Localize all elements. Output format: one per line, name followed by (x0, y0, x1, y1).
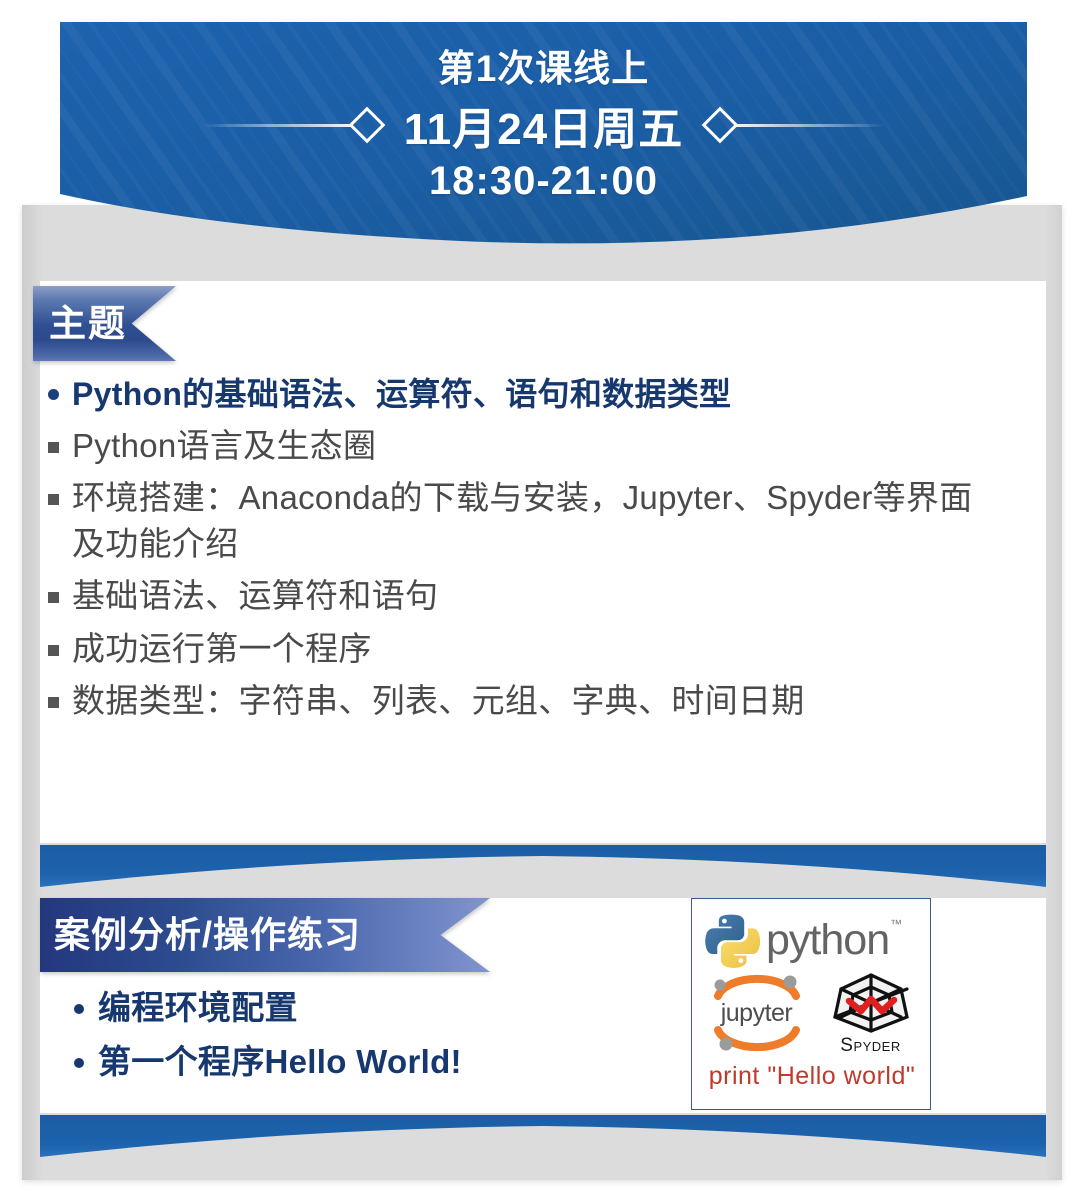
list-item: 环境搭建：Anaconda的下载与安装，Jupyter、Spyder等界面及功能… (48, 475, 998, 567)
list-item: 基础语法、运算符和语句 (48, 573, 998, 619)
square-bullet-icon (48, 645, 59, 656)
python-snake-logo-icon (704, 912, 760, 968)
python-logo-row: python ™ (704, 909, 920, 971)
python-wordmark: python (766, 919, 889, 962)
topic-text: 数据类型：字符串、列表、元组、字典、时间日期 (72, 678, 805, 724)
tools-logo-row: jupyter Spyder (698, 971, 926, 1055)
jupyter-logo-group: jupyter (706, 972, 808, 1054)
course-session-poster: 第1次课线上 11月24日周五 18:30-21:00 主题 Python的基础… (0, 0, 1080, 1201)
spyder-label: Spyder (823, 1036, 919, 1055)
topic-text: 环境搭建：Anaconda的下载与安装，Jupyter、Spyder等界面及功能… (72, 475, 998, 567)
cases-list: 编程环境配置 第一个程序Hello World! (74, 985, 654, 1092)
divider-crescent-bottom-shape (40, 1113, 1046, 1159)
spyder-logo-group: Spyder (823, 971, 919, 1055)
square-bullet-icon (48, 442, 59, 453)
square-bullet-icon (48, 697, 59, 708)
round-bullet-icon (48, 389, 59, 400)
list-item: 成功运行第一个程序 (48, 626, 998, 672)
topic-text: Python的基础语法、运算符、语句和数据类型 (72, 372, 731, 417)
jupyter-label: jupyter (706, 1001, 808, 1026)
case-text: 编程环境配置 (98, 985, 298, 1031)
header-banner: 第1次课线上 11月24日周五 18:30-21:00 (60, 22, 1027, 247)
ribbon-cases-label: 案例分析/操作练习 (40, 917, 361, 953)
square-bullet-icon (48, 592, 59, 603)
hello-world-code-line: print "Hello world" (692, 1062, 932, 1091)
list-item: Python的基础语法、运算符、语句和数据类型 (48, 372, 998, 417)
ribbon-topics: 主题 (33, 286, 176, 361)
square-bullet-icon (48, 494, 59, 505)
header-banner-shape (60, 22, 1027, 247)
divider-crescent-bottom (40, 1113, 1046, 1159)
topic-text: 成功运行第一个程序 (72, 626, 372, 672)
ribbon-topics-label: 主题 (33, 305, 127, 342)
divider-crescent-middle (40, 843, 1046, 889)
topic-text: 基础语法、运算符和语句 (72, 573, 438, 619)
list-item: 数据类型：字符串、列表、元组、字典、时间日期 (48, 678, 998, 724)
ribbon-cases: 案例分析/操作练习 (40, 898, 490, 972)
round-bullet-icon (74, 1058, 84, 1068)
round-bullet-icon (74, 1004, 84, 1014)
list-item: Python语言及生态圈 (48, 423, 998, 469)
divider-crescent-middle-shape (40, 843, 1046, 889)
topic-text: Python语言及生态圈 (72, 423, 376, 469)
case-text: 第一个程序Hello World! (98, 1039, 462, 1085)
spyder-web-logo-icon (825, 971, 917, 1035)
list-item: 第一个程序Hello World! (74, 1039, 654, 1085)
topics-list: Python的基础语法、运算符、语句和数据类型 Python语言及生态圈 环境搭… (48, 372, 998, 730)
python-trademark-symbol: ™ (890, 917, 902, 931)
python-tools-logo-box: python ™ jupyter (691, 898, 931, 1110)
list-item: 编程环境配置 (74, 985, 654, 1031)
